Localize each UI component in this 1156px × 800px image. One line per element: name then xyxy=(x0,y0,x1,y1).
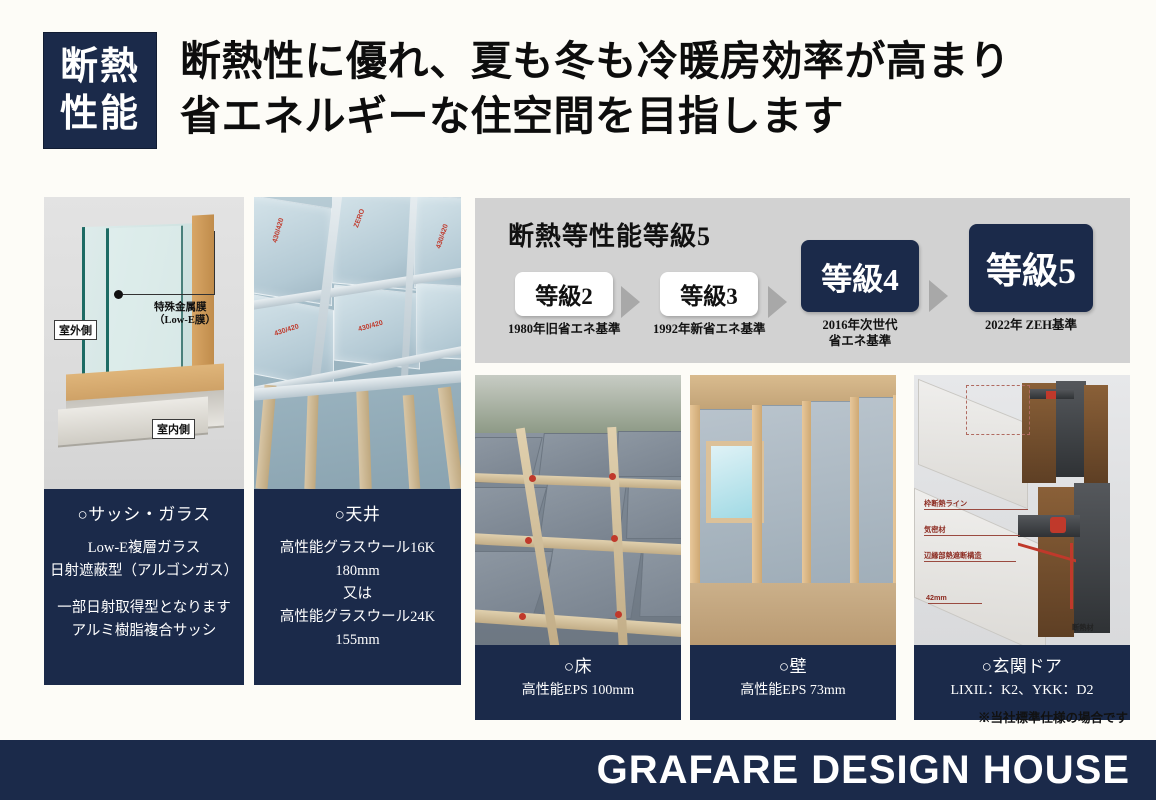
ceiling-insulation-photo: 430/420 ZERO 430/420 430/420 430/420 xyxy=(254,197,461,489)
grade-step-1-caption: 1980年旧省エネ基準 xyxy=(508,321,620,337)
chevron-right-icon-2 xyxy=(768,286,787,318)
infographic-page: 断熱 性能 断熱性に優れ、夏も冬も冷暖房効率が高まり 省エネルギーな住空間を目指… xyxy=(0,0,1156,800)
ceiling-card: 430/420 ZERO 430/420 430/420 430/420 ○天井… xyxy=(254,197,461,685)
wall-caption: ○壁 高性能EPS 73mm xyxy=(690,645,896,720)
detail-zoom-box xyxy=(966,385,1030,435)
headline-line-1: 断熱性に優れ、夏も冬も冷暖房効率が高まり xyxy=(180,34,1120,89)
chevron-right-icon-3 xyxy=(929,280,948,312)
floor-insulation-photo xyxy=(475,375,681,645)
ceiling-caption-line-4: 高性能グラスウール24K xyxy=(260,606,455,629)
ceiling-caption-title: ○天井 xyxy=(260,503,455,527)
grade-step-3-caption-line-1: 2016年次世代 xyxy=(797,317,923,333)
headline-line-2: 省エネルギーな住空間を目指します xyxy=(180,89,1120,144)
label-outside: 室外側 xyxy=(54,320,97,340)
floor-card: ○床 高性能EPS 100mm xyxy=(475,375,681,720)
footer-bar: GRAFARE DESIGN HOUSE xyxy=(0,740,1156,800)
grade-step-4-box: 等級5 xyxy=(969,224,1093,312)
grade-step-2-box: 等級3 xyxy=(660,272,758,316)
grade-step-3: 等級4 2016年次世代 省エネ基準 xyxy=(797,240,923,349)
grade-step-3-caption-line-2: 省エネ基準 xyxy=(797,333,923,349)
label-lowe-film-line-2: （Low-E膜） xyxy=(154,314,216,327)
floor-caption-line-1: 高性能EPS 100mm xyxy=(481,681,675,701)
window-caption-line-4: アルミ樹脂複合サッシ xyxy=(50,620,238,643)
window-caption-title: ○サッシ・ガラス xyxy=(50,503,238,527)
window-caption-line-1: Low-E複層ガラス xyxy=(50,537,238,560)
label-edge-thermal-break: 辺縁部熱遮断構造 xyxy=(924,551,982,561)
label-frame-insulation-line: 枠断熱ライン xyxy=(924,499,967,509)
wall-caption-line-1: 高性能EPS 73mm xyxy=(696,681,890,701)
label-insulation-material: 断熱材 xyxy=(1072,623,1094,633)
page-title: 断熱性に優れ、夏も冬も冷暖房効率が高まり 省エネルギーな住空間を目指します xyxy=(180,34,1120,144)
window-caption: ○サッシ・ガラス Low-E複層ガラス 日射遮蔽型（アルゴンガス） 一部日射取得… xyxy=(44,489,244,685)
grade-step-4: 等級5 2022年 ZEH基準 xyxy=(961,224,1101,333)
ceiling-caption-line-1: 高性能グラスウール16K xyxy=(260,537,455,560)
window-cutaway-diagram: 室外側 室内側 特殊金属膜 （Low-E膜） xyxy=(44,197,244,489)
window-caption-line-2: 日射遮蔽型（アルゴンガス） xyxy=(50,560,238,583)
door-caption-title: ○玄関ドア xyxy=(920,656,1124,677)
subfloor-band xyxy=(690,583,896,645)
grade-step-2: 等級3 1992年新省エネ基準 xyxy=(653,272,765,337)
wall-caption-title: ○壁 xyxy=(696,656,890,677)
ceiling-caption: ○天井 高性能グラスウール16K 180mm 又は 高性能グラスウール24K 1… xyxy=(254,489,461,685)
grade-step-3-box: 等級4 xyxy=(801,240,919,312)
caption-spacer xyxy=(50,583,238,597)
header: 断熱 性能 断熱性に優れ、夏も冬も冷暖房効率が高まり 省エネルギーな住空間を目指… xyxy=(0,0,1156,180)
window-caption-line-3: 一部日射取得型となります xyxy=(50,597,238,620)
ceiling-caption-line-2: 180mm xyxy=(260,560,455,583)
door-caption-line-1: LIXIL：K2、YKK：D2 xyxy=(920,681,1124,701)
badge-line-1: 断熱 xyxy=(60,44,140,91)
label-thickness: 42mm xyxy=(926,593,947,602)
door-card: 枠断熱ライン 気密材 辺縁部熱遮断構造 42mm 断熱材 ○玄関ドア LIXIL… xyxy=(914,375,1130,720)
floor-caption: ○床 高性能EPS 100mm xyxy=(475,645,681,720)
ceiling-caption-line-3: 又は xyxy=(260,583,455,606)
label-lowe-film-line-1: 特殊金属膜 xyxy=(154,301,216,314)
grade-step-1: 等級2 1980年旧省エネ基準 xyxy=(508,272,620,337)
insulation-grade-panel: 断熱等性能等級5 等級2 1980年旧省エネ基準 等級3 1992年新省エネ基準… xyxy=(475,198,1130,363)
door-section-diagram: 枠断熱ライン 気密材 辺縁部熱遮断構造 42mm 断熱材 xyxy=(914,375,1130,645)
brand-logo: GRAFARE DESIGN HOUSE xyxy=(597,748,1156,793)
grade-panel-title: 断熱等性能等級5 xyxy=(508,216,711,253)
wall-card: ○壁 高性能EPS 73mm xyxy=(690,375,896,720)
grade-step-1-box: 等級2 xyxy=(515,272,613,316)
callout-dot-icon xyxy=(114,290,123,299)
label-lowe-film: 特殊金属膜 （Low-E膜） xyxy=(154,301,216,327)
callout-leader-line-vertical xyxy=(214,231,215,295)
wall-insulation-photo xyxy=(690,375,896,645)
label-air-seal: 気密材 xyxy=(924,525,946,535)
label-inside: 室内側 xyxy=(152,419,195,439)
grade-step-2-caption: 1992年新省エネ基準 xyxy=(653,321,765,337)
photo-background-sky xyxy=(475,375,681,433)
ceiling-caption-line-5: 155mm xyxy=(260,629,455,652)
grade-step-4-caption: 2022年 ZEH基準 xyxy=(961,317,1101,333)
floor-caption-title: ○床 xyxy=(481,656,675,677)
badge-line-2: 性能 xyxy=(60,91,140,138)
callout-leader-line xyxy=(123,294,215,295)
footnote: ※当社標準仕様の場合です xyxy=(978,707,1128,726)
window-card: 室外側 室内側 特殊金属膜 （Low-E膜） ○サッシ・ガラス Low-E複層ガ… xyxy=(44,197,244,685)
section-badge: 断熱 性能 xyxy=(44,33,156,148)
chevron-right-icon-1 xyxy=(621,286,640,318)
